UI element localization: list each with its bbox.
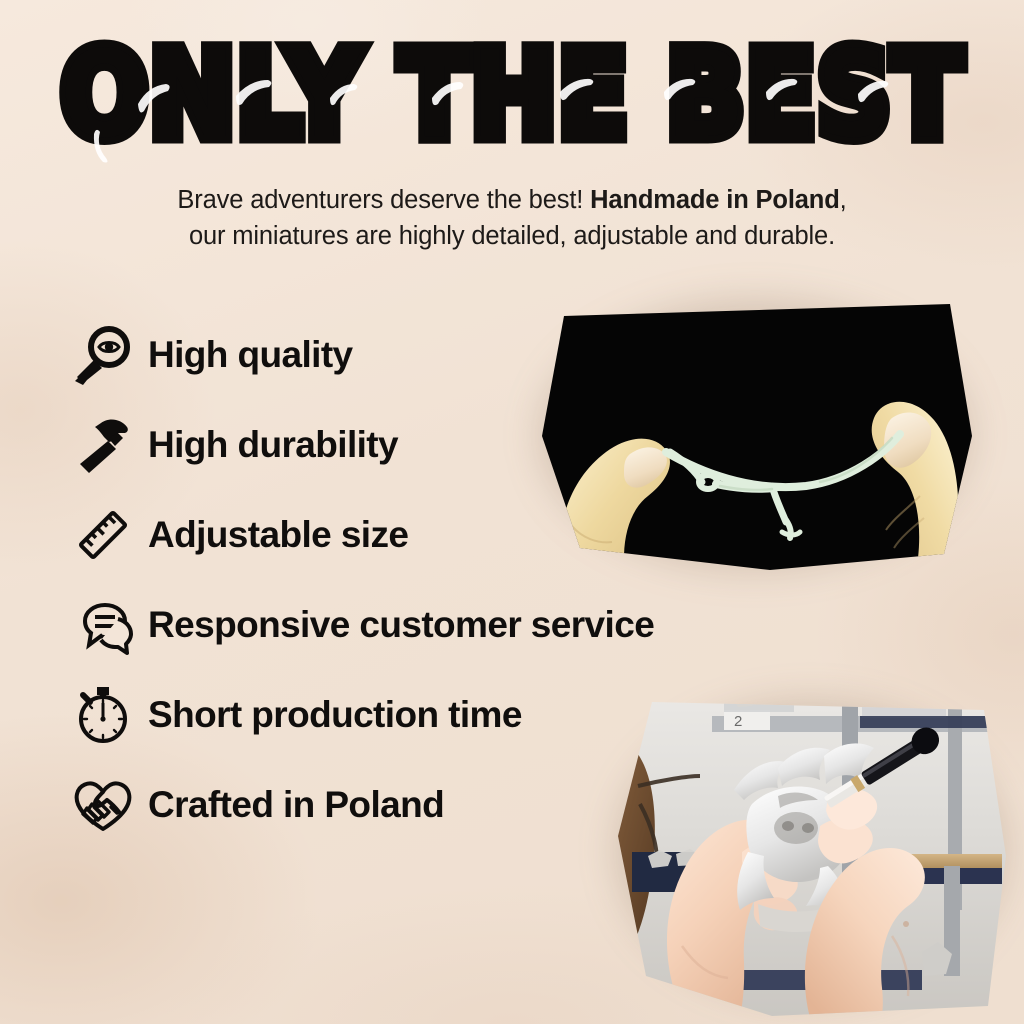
feature-label: High durability <box>148 424 398 466</box>
feature-label: Responsive customer service <box>148 604 654 646</box>
stopwatch-icon <box>66 678 140 752</box>
subtitle-line-1: Brave adventurers deserve the best! Hand… <box>82 182 942 218</box>
headline-container: ONLY THE BEST <box>0 36 1024 139</box>
feature-label: Adjustable size <box>148 514 408 556</box>
feature-item-crafted-in-poland: Crafted in Poland <box>66 760 766 850</box>
feature-label: High quality <box>148 334 353 376</box>
feature-item-adjustable-size: Adjustable size <box>66 490 766 580</box>
feature-item-high-durability: High durability <box>66 400 766 490</box>
hammer-icon <box>66 408 140 482</box>
page-title: ONLY THE BEST <box>61 36 964 155</box>
subtitle-lead: Brave adventurers deserve the best! <box>177 186 590 214</box>
feature-item-short-production-time: Short production time <box>66 670 766 760</box>
ruler-icon <box>66 498 140 572</box>
feature-label: Crafted in Poland <box>148 784 444 826</box>
feature-label: Short production time <box>148 694 522 736</box>
magnifier-eye-icon <box>66 318 140 392</box>
subtitle-tail: , <box>840 186 847 214</box>
subtitle-line-2: our miniatures are highly detailed, adju… <box>82 218 942 254</box>
subtitle-emphasis: Handmade in Poland <box>590 186 840 214</box>
speech-bubbles-icon <box>66 588 140 662</box>
feature-item-high-quality: High quality <box>66 310 766 400</box>
subtitle: Brave adventurers deserve the best! Hand… <box>82 182 942 254</box>
feature-list: High quality High durability <box>66 310 766 850</box>
feature-item-responsive-service: Responsive customer service <box>66 580 766 670</box>
heart-handshake-icon <box>66 768 140 842</box>
